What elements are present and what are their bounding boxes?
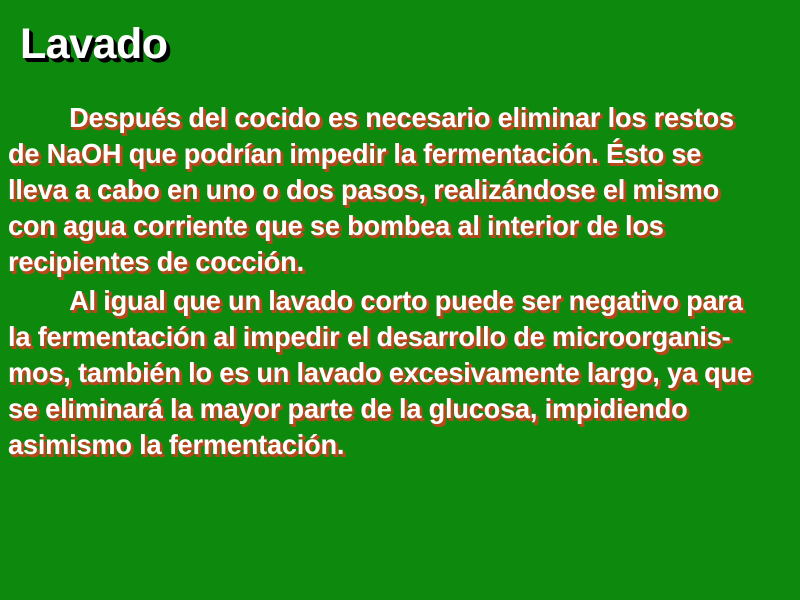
- text-line: Después del cocido es necesario eliminar…: [8, 100, 772, 136]
- presentation-slide: Lavado Después del cocido es necesario e…: [0, 0, 800, 600]
- slide-title: Lavado: [20, 22, 168, 67]
- paragraph-2: Al igual que un lavado corto puede ser n…: [8, 283, 796, 463]
- text-line: recipientes de cocción.: [8, 244, 772, 280]
- text-line: asimismo la fermentación.: [8, 427, 772, 463]
- text-line: mos, también lo es un lavado excesivamen…: [8, 355, 772, 391]
- text-line: se eliminará la mayor parte de la glucos…: [8, 391, 772, 427]
- text-line: lleva a cabo en uno o dos pasos, realizá…: [8, 172, 772, 208]
- paragraph-1: Después del cocido es necesario eliminar…: [8, 100, 796, 280]
- text-line: de NaOH que podrían impedir la fermentac…: [8, 136, 772, 172]
- slide-body: Después del cocido es necesario eliminar…: [8, 100, 796, 463]
- text-line: con agua corriente que se bombea al inte…: [8, 208, 772, 244]
- text-line: Al igual que un lavado corto puede ser n…: [8, 283, 772, 319]
- text-line: la fermentación al impedir el desarrollo…: [8, 319, 772, 355]
